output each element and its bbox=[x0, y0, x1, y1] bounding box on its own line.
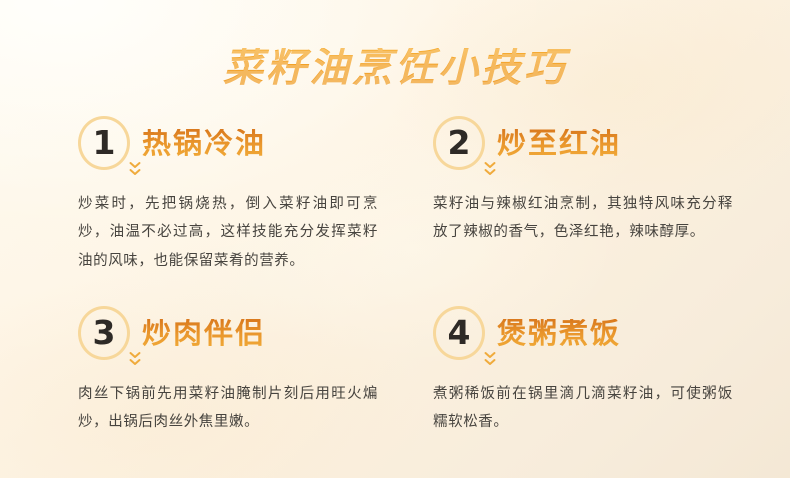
tip-body-3: 肉丝下锅前先用菜籽油腌制片刻后用旺火煸炒，出锅后肉丝外焦里嫩。 bbox=[78, 380, 378, 437]
tip-card-3: 3 炒肉伴侣 肉丝下锅前先用菜籽油腌制片刻后用旺火煸炒，出锅后肉丝外焦里嫩。 bbox=[78, 302, 423, 478]
tip-number-1: 1 bbox=[93, 126, 116, 159]
tip-heading-1: 热锅冷油 bbox=[142, 129, 266, 158]
tip-header-4: 4 煲粥煮饭 bbox=[433, 302, 778, 364]
double-chevron-down-icon bbox=[129, 351, 141, 369]
tip-heading-2: 炒至红油 bbox=[497, 129, 621, 158]
tip-number-circle-1: 1 bbox=[78, 116, 130, 170]
tip-header-1: 1 热锅冷油 bbox=[78, 112, 423, 174]
tip-header-2: 2 炒至红油 bbox=[433, 112, 778, 174]
double-chevron-down-icon bbox=[129, 161, 141, 179]
tip-number-4: 4 bbox=[448, 316, 471, 349]
tip-card-4: 4 煲粥煮饭 煮粥稀饭前在锅里滴几滴菜籽油，可使粥饭糯软松香。 bbox=[433, 302, 778, 478]
tip-number-circle-4: 4 bbox=[433, 306, 485, 360]
page-title: 菜籽油烹饪小技巧 bbox=[0, 48, 790, 88]
tip-header-3: 3 炒肉伴侣 bbox=[78, 302, 423, 364]
tip-card-1: 1 热锅冷油 炒菜时，先把锅烧热，倒入菜籽油即可烹炒，油温不必过高，这样技能充分… bbox=[78, 112, 423, 302]
tip-body-1: 炒菜时，先把锅烧热，倒入菜籽油即可烹炒，油温不必过高，这样技能充分发挥菜籽油的风… bbox=[78, 190, 378, 275]
tip-number-3: 3 bbox=[93, 316, 116, 349]
tip-heading-3: 炒肉伴侣 bbox=[142, 319, 266, 348]
double-chevron-down-icon bbox=[484, 351, 496, 369]
tip-body-2: 菜籽油与辣椒红油烹制，其独特风味充分释放了辣椒的香气，色泽红艳，辣味醇厚。 bbox=[433, 190, 733, 247]
tip-number-circle-3: 3 bbox=[78, 306, 130, 360]
double-chevron-down-icon bbox=[484, 161, 496, 179]
tip-heading-4: 煲粥煮饭 bbox=[497, 319, 621, 348]
bottom-white-strip bbox=[0, 478, 790, 490]
tip-number-2: 2 bbox=[448, 126, 471, 159]
tip-body-4: 煮粥稀饭前在锅里滴几滴菜籽油，可使粥饭糯软松香。 bbox=[433, 380, 733, 437]
tip-card-2: 2 炒至红油 菜籽油与辣椒红油烹制，其独特风味充分释放了辣椒的香气，色泽红艳，辣… bbox=[433, 112, 778, 302]
tip-number-circle-2: 2 bbox=[433, 116, 485, 170]
poster-canvas: 菜籽油烹饪小技巧 1 热锅冷油 炒菜时，先把锅烧热，倒入菜籽油即可烹炒，油温不必… bbox=[0, 0, 790, 478]
tips-grid: 1 热锅冷油 炒菜时，先把锅烧热，倒入菜籽油即可烹炒，油温不必过高，这样技能充分… bbox=[0, 112, 790, 478]
